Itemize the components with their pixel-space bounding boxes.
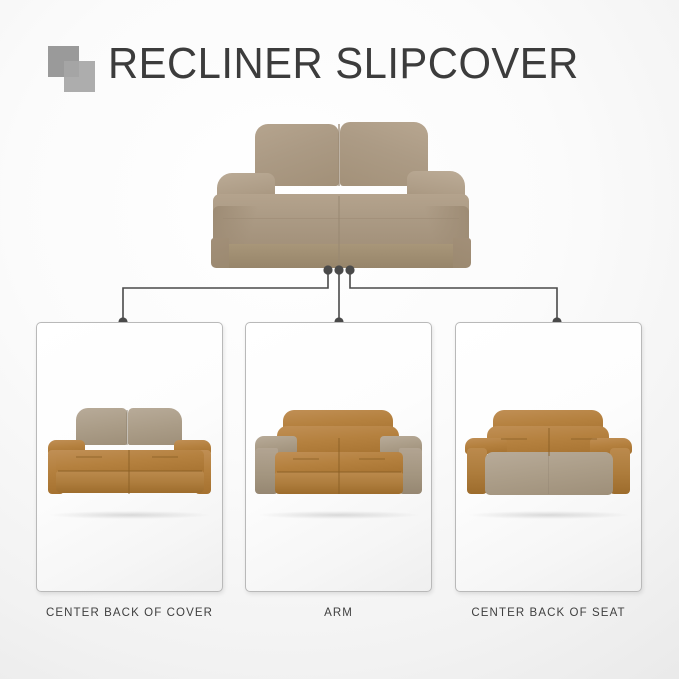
- connector-path-right: [350, 270, 557, 322]
- panel-arm[interactable]: [245, 322, 432, 592]
- mini2-center-seam: [338, 438, 340, 494]
- panel-center-back-of-seat[interactable]: [455, 322, 642, 592]
- mini2-tuft-left: [293, 458, 319, 460]
- panel-center-back-of-cover[interactable]: [36, 322, 223, 592]
- mini3-seat-cover: [485, 452, 613, 495]
- caption-arm: ARM: [245, 607, 432, 619]
- hero-sofa-illustration: [203, 118, 478, 273]
- header: RECLINER SLIPCOVER: [0, 0, 679, 115]
- mini1-back-cover-left: [76, 408, 127, 445]
- hero-skirt: [215, 244, 467, 268]
- page-title: RECLINER SLIPCOVER: [108, 36, 579, 92]
- mini1-horizontal-seam: [58, 470, 202, 472]
- infographic-canvas: RECLINER SLIPCOVER: [0, 0, 679, 679]
- mini3-floor-shadow: [469, 511, 629, 519]
- hero-seat-line: [223, 218, 459, 219]
- mini3-tuft-left: [501, 438, 527, 440]
- mini3-side-right: [610, 448, 630, 494]
- mini2-horizontal-seam: [277, 471, 401, 473]
- sofa-seat-covered-illustration: [465, 408, 633, 513]
- sofa-back-covered-illustration: [46, 408, 214, 513]
- hero-corner-left: [211, 238, 229, 268]
- mini1-floor-shadow: [50, 511, 210, 519]
- mini3-tuft-right: [571, 438, 597, 440]
- caption-center-back-of-cover: CENTER BACK OF COVER: [36, 607, 223, 619]
- mini1-center-seam: [128, 450, 130, 494]
- hero-corner-right: [453, 238, 471, 268]
- mini1-base: [56, 471, 204, 493]
- mini1-tuft-right: [152, 456, 178, 458]
- mini1-back-seam: [126, 410, 128, 445]
- mini2-floor-shadow: [259, 511, 419, 519]
- sofa-arms-covered-illustration: [255, 408, 423, 513]
- mini3-cover-seam: [548, 454, 549, 494]
- hero-back-seam: [338, 124, 340, 186]
- logo-square-front-icon: [64, 61, 95, 92]
- mini3-side-left: [467, 448, 487, 494]
- mini1-tuft-left: [76, 456, 102, 458]
- connector-path-left: [123, 270, 328, 322]
- caption-center-back-of-seat: CENTER BACK OF SEAT: [455, 607, 642, 619]
- mini3-back-seam: [548, 428, 550, 456]
- mini1-back-cover-right: [128, 408, 182, 445]
- mini2-tuft-right: [359, 458, 385, 460]
- hero-center-seam: [338, 196, 340, 266]
